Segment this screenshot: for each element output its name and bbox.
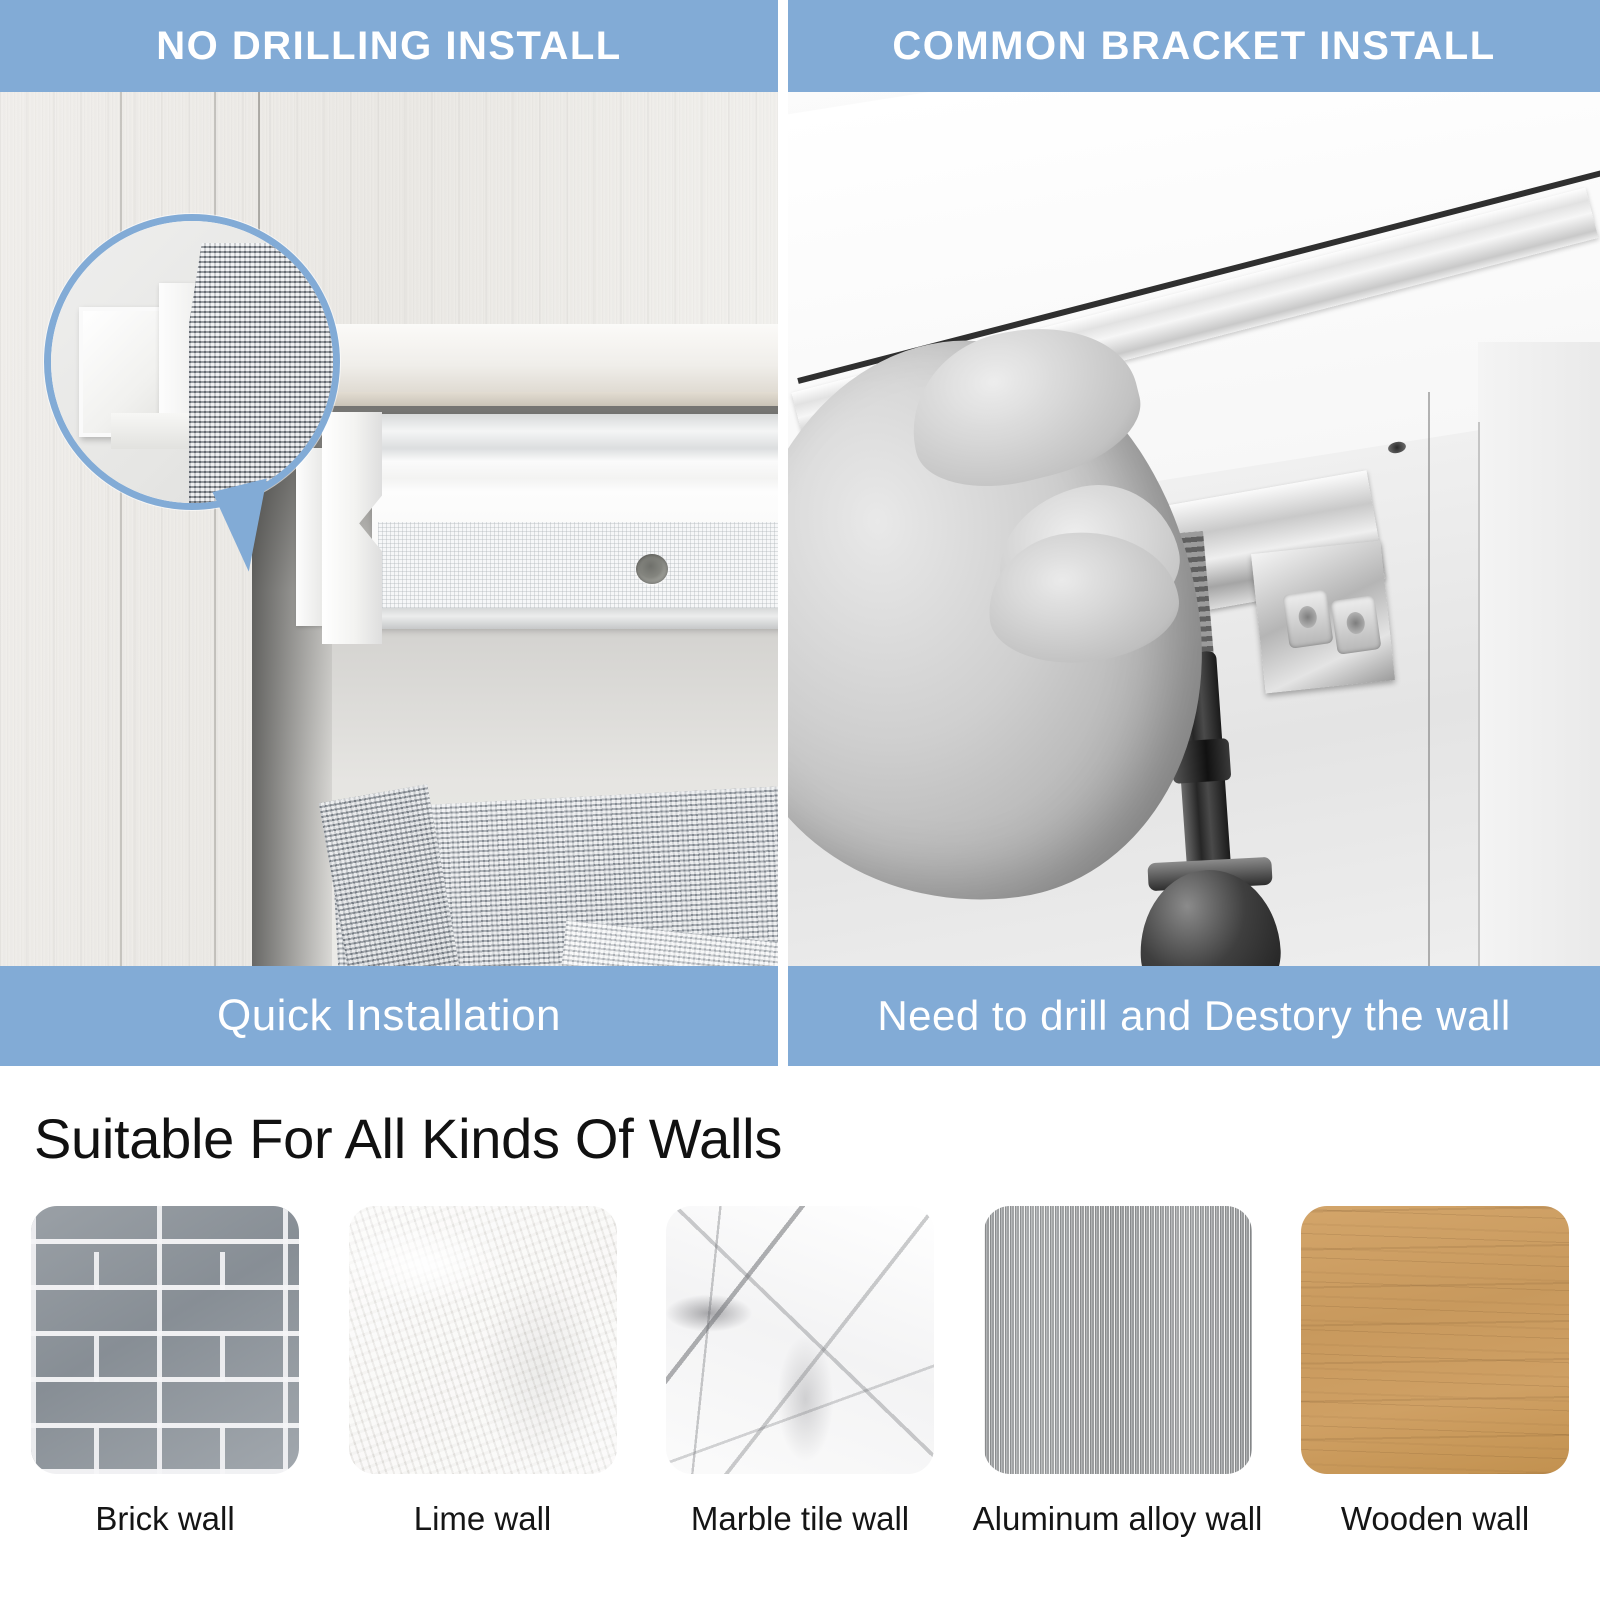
wall-sample-wooden[interactable]: Wooden wall [1294, 1206, 1576, 1538]
wall-sample-lime[interactable]: Lime wall [342, 1206, 624, 1538]
wall-sample-label: Brick wall [95, 1500, 234, 1538]
grey-fabric-detail [189, 243, 340, 510]
panel-left-caption: Quick Installation [0, 966, 778, 1066]
panel-divider [778, 0, 788, 1066]
wall-sample-marble[interactable]: Marble tile wall [659, 1206, 941, 1538]
brick-wall-swatch [31, 1206, 299, 1474]
callout-no-drill-bracket [44, 214, 340, 510]
bw-photo-wrapper [788, 92, 1600, 966]
panel-right-header: COMMON BRACKET INSTALL [788, 0, 1600, 92]
infographic-page: NO DRILLING INSTALL [0, 0, 1600, 1600]
lime-wall-swatch [349, 1206, 617, 1474]
headrail-woven-fabric [378, 522, 778, 608]
walls-section: Suitable For All Kinds Of Walls Brick wa… [0, 1066, 1600, 1600]
wall-samples-row: Brick wall Lime wall Marble tile wall Al… [0, 1206, 1600, 1538]
headrail-screw-hole [636, 554, 668, 584]
wall-sample-aluminum[interactable]: Aluminum alloy wall [977, 1206, 1259, 1538]
panel-no-drilling: NO DRILLING INSTALL [0, 0, 778, 1066]
common-bracket-photo [788, 92, 1600, 966]
wall-corner-line [1428, 392, 1430, 966]
bracket-foot [111, 413, 197, 449]
bracket-screw-ear [1282, 589, 1333, 649]
wall-sample-label: Wooden wall [1341, 1500, 1529, 1538]
wall-side-face [1478, 342, 1600, 966]
wall-sample-label: Marble tile wall [691, 1500, 909, 1538]
wall-sample-label: Lime wall [414, 1500, 552, 1538]
walls-section-title: Suitable For All Kinds Of Walls [34, 1106, 782, 1171]
wall-corner-line [1478, 422, 1480, 966]
comparison-section: NO DRILLING INSTALL [0, 0, 1600, 1066]
panel-right-caption: Need to drill and Destory the wall [788, 966, 1600, 1066]
wooden-wall-swatch [1301, 1206, 1569, 1474]
panel-common-bracket: COMMON BRACKET INSTALL [788, 0, 1600, 1066]
wall-sample-label: Aluminum alloy wall [973, 1500, 1263, 1538]
wall-sample-brick[interactable]: Brick wall [24, 1206, 306, 1538]
marble-tile-wall-swatch [666, 1206, 934, 1474]
panel-left-header: NO DRILLING INSTALL [0, 0, 778, 92]
no-drilling-photo [0, 92, 778, 966]
bracket-screw-ear [1330, 595, 1381, 655]
aluminum-alloy-wall-swatch [984, 1206, 1252, 1474]
